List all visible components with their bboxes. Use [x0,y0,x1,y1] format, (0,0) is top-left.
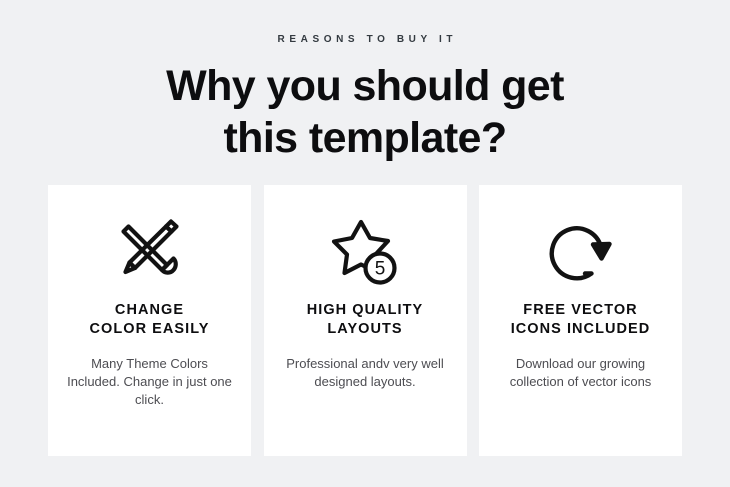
page-title: Why you should get this template? [85,60,645,164]
refresh-circle-arrow-icon [544,211,618,295]
feature-card-high-quality[interactable]: 5 HIGH QUALITY LAYOUTS Professional andv… [264,185,467,456]
page-title-line-1: Why you should get [166,62,564,110]
feature-card-title-line-1: FREE VECTOR [523,302,637,318]
feature-card-body: Download our growing collection of vecto… [497,355,665,391]
feature-card-title-line-2: COLOR EASILY [89,321,209,337]
feature-card-list: CHANGE COLOR EASILY Many Theme Colors In… [48,185,682,456]
page-title-line-2: this template? [223,114,506,162]
star-rating-five-icon: 5 [328,211,402,295]
feature-card-title-line-2: LAYOUTS [327,321,402,337]
svg-text:5: 5 [375,259,386,280]
feature-card-title-line-1: CHANGE [115,302,184,318]
slide-root: REASONS TO BUY IT Why you should get thi… [0,0,730,487]
feature-card-title: HIGH QUALITY LAYOUTS [274,301,456,339]
feature-card-title-line-2: ICONS INCLUDED [511,321,651,337]
feature-card-body: Professional andv very well designed lay… [281,355,449,391]
feature-card-title: FREE VECTOR ICONS INCLUDED [490,301,672,339]
feature-card-title: CHANGE COLOR EASILY [59,301,241,339]
feature-card-title-line-1: HIGH QUALITY [307,302,424,318]
feature-card-body: Many Theme Colors Included. Change in ju… [66,355,234,409]
header-block: REASONS TO BUY IT Why you should get thi… [0,0,730,164]
eyebrow-label: REASONS TO BUY IT [0,33,730,47]
pencil-brush-icon [113,211,187,295]
feature-card-change-color[interactable]: CHANGE COLOR EASILY Many Theme Colors In… [48,185,251,456]
feature-card-free-icons[interactable]: FREE VECTOR ICONS INCLUDED Download our … [479,185,682,456]
